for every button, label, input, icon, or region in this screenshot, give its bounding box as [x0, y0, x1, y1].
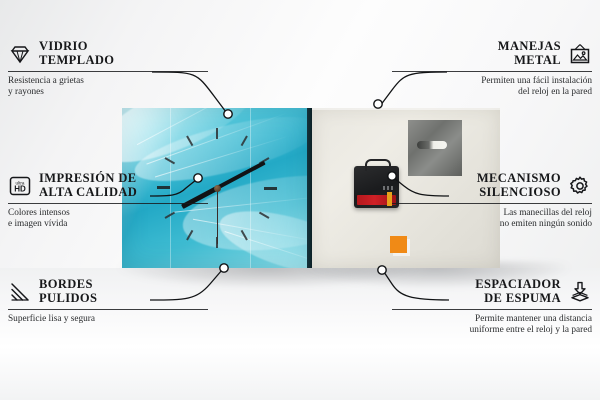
feature-title-line1: VIDRIO: [39, 39, 88, 53]
feature-desc-line2: del reloj en la pared: [518, 87, 592, 97]
picture-frame-icon: [568, 42, 592, 66]
feature-impresion-alta-calidad[interactable]: ultra HD IMPRESIÓN DE ALTA CALIDAD Color…: [8, 172, 208, 230]
divider: [392, 309, 592, 310]
divider: [392, 71, 592, 72]
feature-title-line2: DE ESPUMA: [484, 291, 561, 305]
clock-center-pin: [214, 185, 221, 192]
feature-manejas-metal[interactable]: MANEJAS METAL Permiten una fácil instala…: [392, 40, 592, 98]
feature-desc-line1: Colores intensos: [8, 208, 70, 218]
feature-desc-line1: Permite mantener una distancia: [475, 314, 592, 324]
infographic-canvas: VIDRIO TEMPLADO Resistencia a grietas y …: [0, 0, 600, 400]
feature-desc-line1: Resistencia a grietas: [8, 76, 84, 86]
feature-desc-line2: e imagen vívida: [8, 219, 67, 229]
feature-title-line2: ALTA CALIDAD: [39, 185, 137, 199]
feature-title-line2: TEMPLADO: [39, 53, 114, 67]
divider: [392, 203, 592, 204]
feature-bordes-pulidos[interactable]: BORDES PULIDOS Superficie lisa y segura: [8, 278, 208, 325]
feature-title-line2: SILENCIOSO: [479, 185, 561, 199]
feature-espaciador-espuma[interactable]: ESPACIADOR DE ESPUMA Permite mantener un…: [392, 278, 592, 336]
feature-desc-line2: uniforme entre el reloj y la pared: [470, 325, 592, 335]
feature-title-line1: BORDES: [39, 277, 93, 291]
feature-desc-line2: no emiten ningún sonido: [500, 219, 592, 229]
feature-title-line2: METAL: [514, 53, 561, 67]
diamond-icon: [8, 42, 32, 66]
svg-text:HD: HD: [14, 184, 26, 193]
feature-title-line1: MECANISMO: [477, 171, 561, 185]
divider: [8, 309, 208, 310]
feature-desc-line2: y rayones: [8, 87, 44, 97]
arrow-into-layers-icon: [568, 280, 592, 304]
divider: [8, 71, 208, 72]
gear-icon: [568, 174, 592, 198]
feature-title-line1: IMPRESIÓN DE: [39, 171, 137, 185]
feature-desc-line1: Permiten una fácil instalación: [481, 76, 592, 86]
clock-second-hand: [217, 188, 218, 244]
feature-title-line1: ESPACIADOR: [475, 277, 561, 291]
feature-mecanismo-silencioso[interactable]: MECANISMO SILENCIOSO Las manecillas del …: [392, 172, 592, 230]
polished-edges-icon: [8, 280, 32, 304]
feature-title-line2: PULIDOS: [39, 291, 97, 305]
feature-title-line1: MANEJAS: [498, 39, 561, 53]
feature-desc-line1: Superficie lisa y segura: [8, 314, 95, 324]
ultra-hd-icon: ultra HD: [8, 174, 32, 198]
divider: [8, 203, 208, 204]
feature-desc-line1: Las manecillas del reloj: [503, 208, 592, 218]
metal-hanger-plate: [408, 120, 462, 176]
feature-vidrio-templado[interactable]: VIDRIO TEMPLADO Resistencia a grietas y …: [8, 40, 208, 98]
foam-spacer: [390, 236, 407, 253]
